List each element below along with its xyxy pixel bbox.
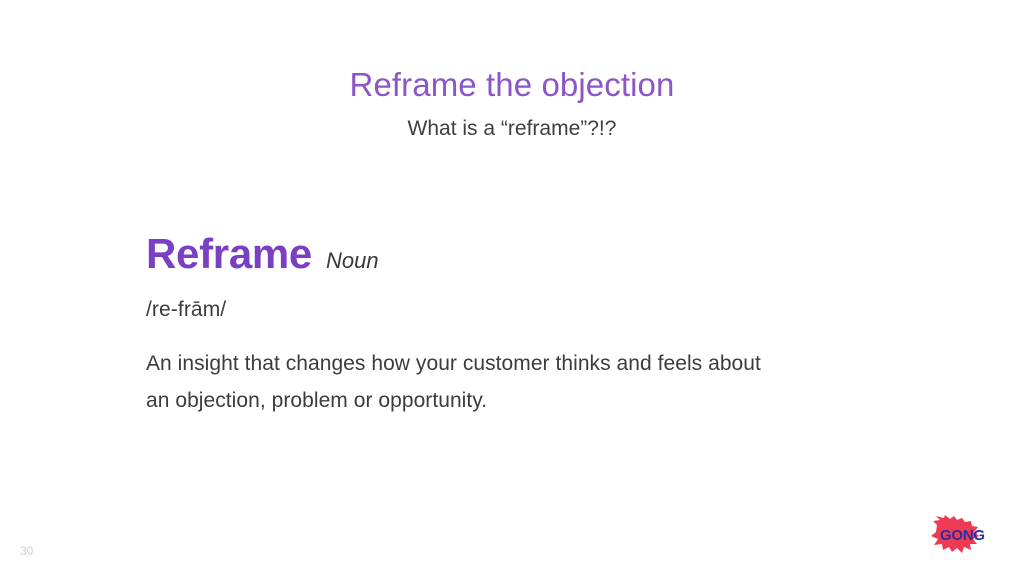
page-number: 30 (20, 544, 33, 558)
page-title: Reframe the objection (0, 66, 1024, 104)
slide-header: Reframe the objection What is a “reframe… (0, 66, 1024, 141)
definition-term: Reframe (146, 232, 312, 276)
definition-block: Reframe Noun /re-frām/ An insight that c… (146, 232, 866, 420)
page-subtitle: What is a “reframe”?!? (0, 116, 1024, 141)
part-of-speech-label: Noun (326, 248, 379, 274)
gong-logo: GONG (930, 515, 1002, 559)
term-line: Reframe Noun (146, 232, 866, 276)
slide: Reframe the objection What is a “reframe… (0, 0, 1024, 573)
logo-wordmark: GONG (940, 527, 985, 544)
definition-meaning: An insight that changes how your custome… (146, 346, 786, 420)
pronunciation-text: /re-frām/ (146, 298, 866, 322)
